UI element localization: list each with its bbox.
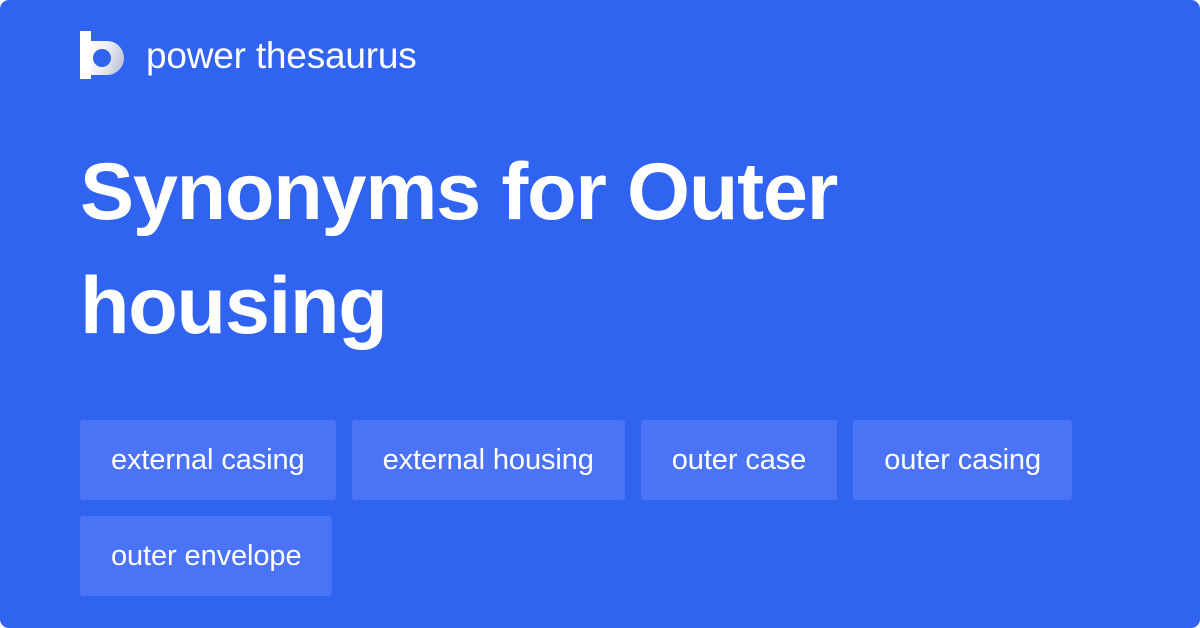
page-title: Synonyms for Outer housing xyxy=(80,135,1080,363)
synonym-chip[interactable]: external casing xyxy=(80,420,336,500)
power-thesaurus-b-logo-icon xyxy=(80,31,124,79)
synonym-chip[interactable]: outer envelope xyxy=(80,516,332,596)
synonym-chip-list: external casing external housing outer c… xyxy=(80,420,1120,596)
synonym-chip[interactable]: outer casing xyxy=(853,420,1072,500)
brand-logo-link[interactable]: power thesaurus xyxy=(80,28,417,82)
synonym-chip[interactable]: outer case xyxy=(641,420,837,500)
synonym-chip[interactable]: external housing xyxy=(352,420,625,500)
synonyms-card: power thesaurus Synonyms for Outer housi… xyxy=(0,0,1200,628)
brand-wordmark: power thesaurus xyxy=(146,37,417,74)
